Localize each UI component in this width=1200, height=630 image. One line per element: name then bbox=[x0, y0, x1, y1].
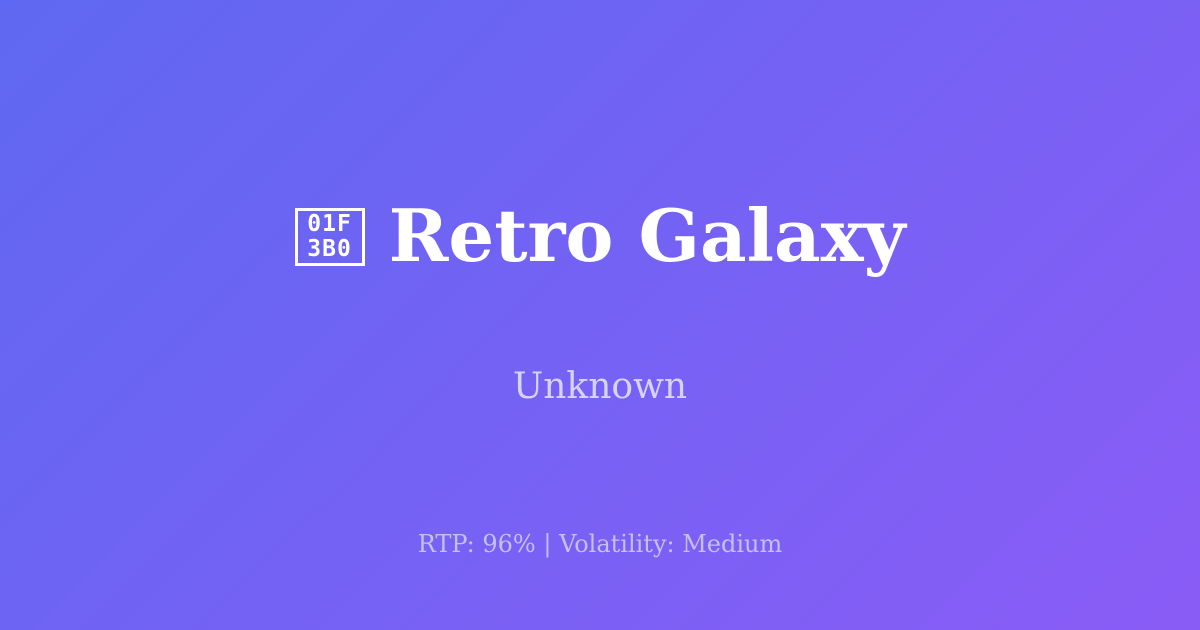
tofu-codepoint-bottom: 3B0 bbox=[307, 237, 352, 262]
game-stats-footer: RTP: 96% | Volatility: Medium bbox=[0, 529, 1200, 559]
page-title: Retro Galaxy bbox=[389, 198, 906, 274]
page-subtitle: Unknown bbox=[0, 365, 1200, 409]
slot-machine-emoji-tofu-icon: 01F 3B0 bbox=[295, 208, 365, 266]
tofu-codepoint-top: 01F bbox=[307, 212, 352, 237]
og-share-card: 01F 3B0 Retro Galaxy Unknown RTP: 96% | … bbox=[0, 0, 1200, 630]
